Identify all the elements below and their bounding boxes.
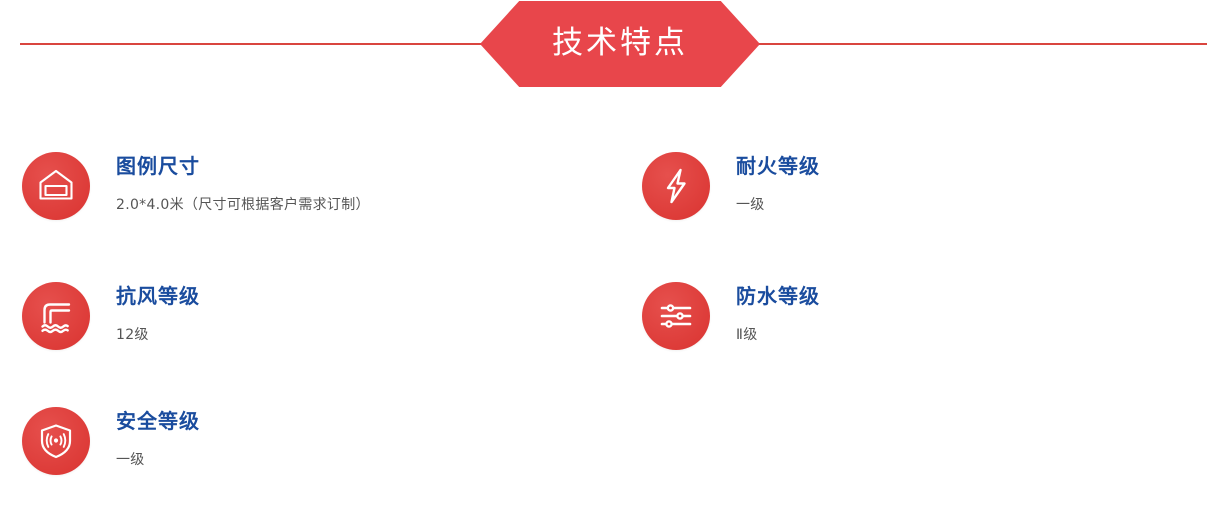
feature-item-size[interactable]: 图例尺寸 2.0*4.0米（尺寸可根据客户需求订制） — [22, 152, 612, 220]
lightning-bolt-icon — [642, 152, 710, 220]
feature-description: 2.0*4.0米（尺寸可根据客户需求订制） — [116, 196, 370, 216]
tent-house-icon — [22, 152, 90, 220]
feature-text-block: 安全等级 一级 — [116, 407, 200, 471]
feature-description: 一级 — [116, 451, 200, 471]
feature-title: 图例尺寸 — [116, 154, 370, 179]
feature-item-fire-resistance[interactable]: 耐火等级 一级 — [642, 152, 1227, 220]
feature-title: 安全等级 — [116, 409, 200, 434]
feature-item-waterproof-level[interactable]: 防水等级 Ⅱ级 — [642, 282, 1227, 350]
banner-hexagon: 技术特点 — [480, 1, 760, 87]
shield-signal-icon — [22, 407, 90, 475]
feature-item-safety-level[interactable]: 安全等级 一级 — [22, 407, 612, 475]
feature-item-wind-resistance[interactable]: 抗风等级 12级 — [22, 282, 612, 350]
feature-text-block: 抗风等级 12级 — [116, 282, 200, 346]
feature-title: 抗风等级 — [116, 284, 200, 309]
features-grid: 图例尺寸 2.0*4.0米（尺寸可根据客户需求订制） 抗风等级 12级 — [0, 110, 1227, 506]
feature-text-block: 耐火等级 一级 — [736, 152, 820, 216]
feature-text-block: 防水等级 Ⅱ级 — [736, 282, 820, 346]
feature-description: 一级 — [736, 196, 820, 216]
feature-description: 12级 — [116, 326, 200, 346]
section-title: 技术特点 — [552, 28, 688, 61]
feature-title: 耐火等级 — [736, 154, 820, 179]
feature-description: Ⅱ级 — [736, 326, 820, 346]
feature-title: 防水等级 — [736, 284, 820, 309]
feature-text-block: 图例尺寸 2.0*4.0米（尺寸可根据客户需求订制） — [116, 152, 370, 216]
section-banner: 技术特点 — [0, 0, 1227, 90]
slider-levels-icon — [642, 282, 710, 350]
wind-wave-icon — [22, 282, 90, 350]
